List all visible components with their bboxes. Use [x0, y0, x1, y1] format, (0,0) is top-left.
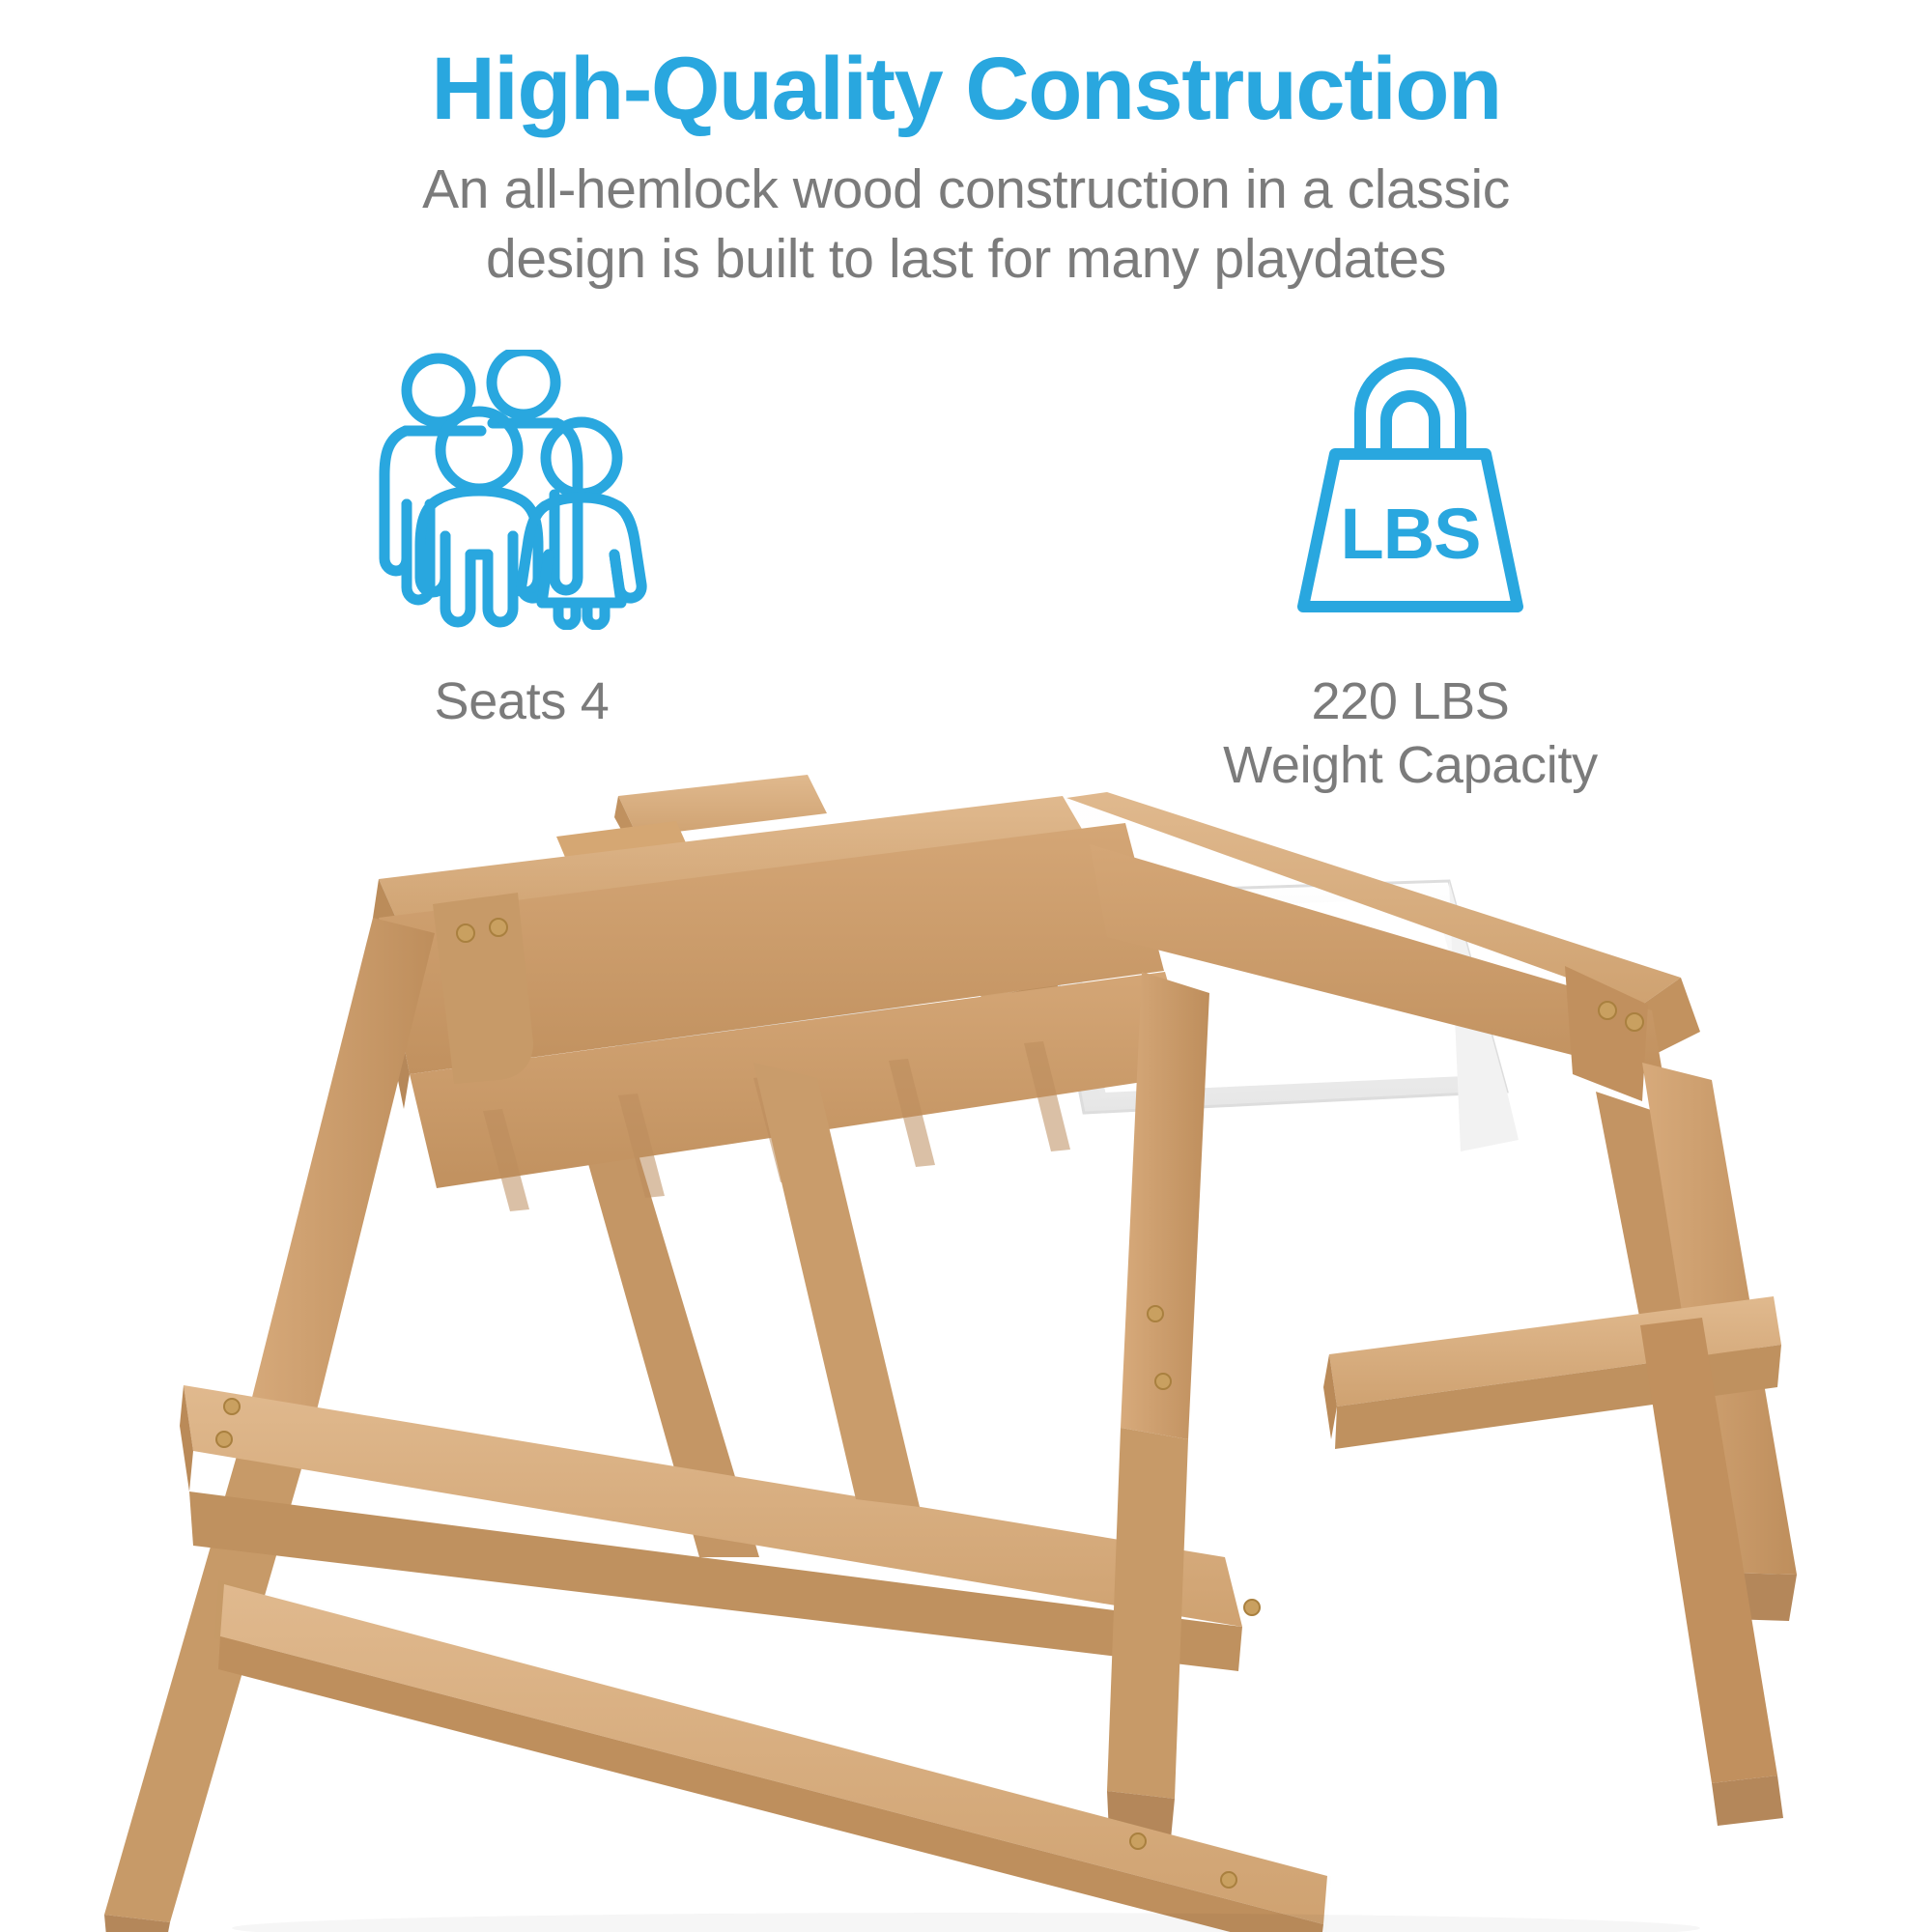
feature-seats: Seats 4 [251, 340, 792, 734]
feature-row: Seats 4 LBS 220 LBS [0, 340, 1932, 798]
weight-bag-icon-label: LBS [1341, 494, 1481, 574]
product-image [0, 773, 1932, 1932]
feature-weight-caption-line-1: 220 LBS [1223, 670, 1598, 734]
product-shadow [232, 1913, 1700, 1932]
feature-seats-icon-box [377, 340, 667, 630]
table-brace-rear [753, 1063, 920, 1507]
feature-seats-caption: Seats 4 [434, 670, 609, 734]
subtitle-line-2: design is built to last for many playdat… [0, 224, 1932, 295]
page-subtitle: An all-hemlock wood construction in a cl… [0, 155, 1932, 296]
subtitle-line-1: An all-hemlock wood construction in a cl… [0, 155, 1932, 225]
picnic-table-illustration [0, 773, 1932, 1932]
product-feature-card: High-Quality Construction An all-hemlock… [0, 0, 1932, 1932]
feature-weight-icon-box: LBS [1280, 340, 1541, 630]
page-title: High-Quality Construction [0, 43, 1932, 137]
weight-bag-icon: LBS [1280, 350, 1541, 630]
family-group-icon [377, 350, 667, 630]
header-block: High-Quality Construction An all-hemlock… [0, 43, 1932, 295]
feature-seats-caption-line-1: Seats 4 [434, 670, 609, 734]
feature-weight-capacity: LBS 220 LBS Weight Capacity [1140, 340, 1681, 798]
